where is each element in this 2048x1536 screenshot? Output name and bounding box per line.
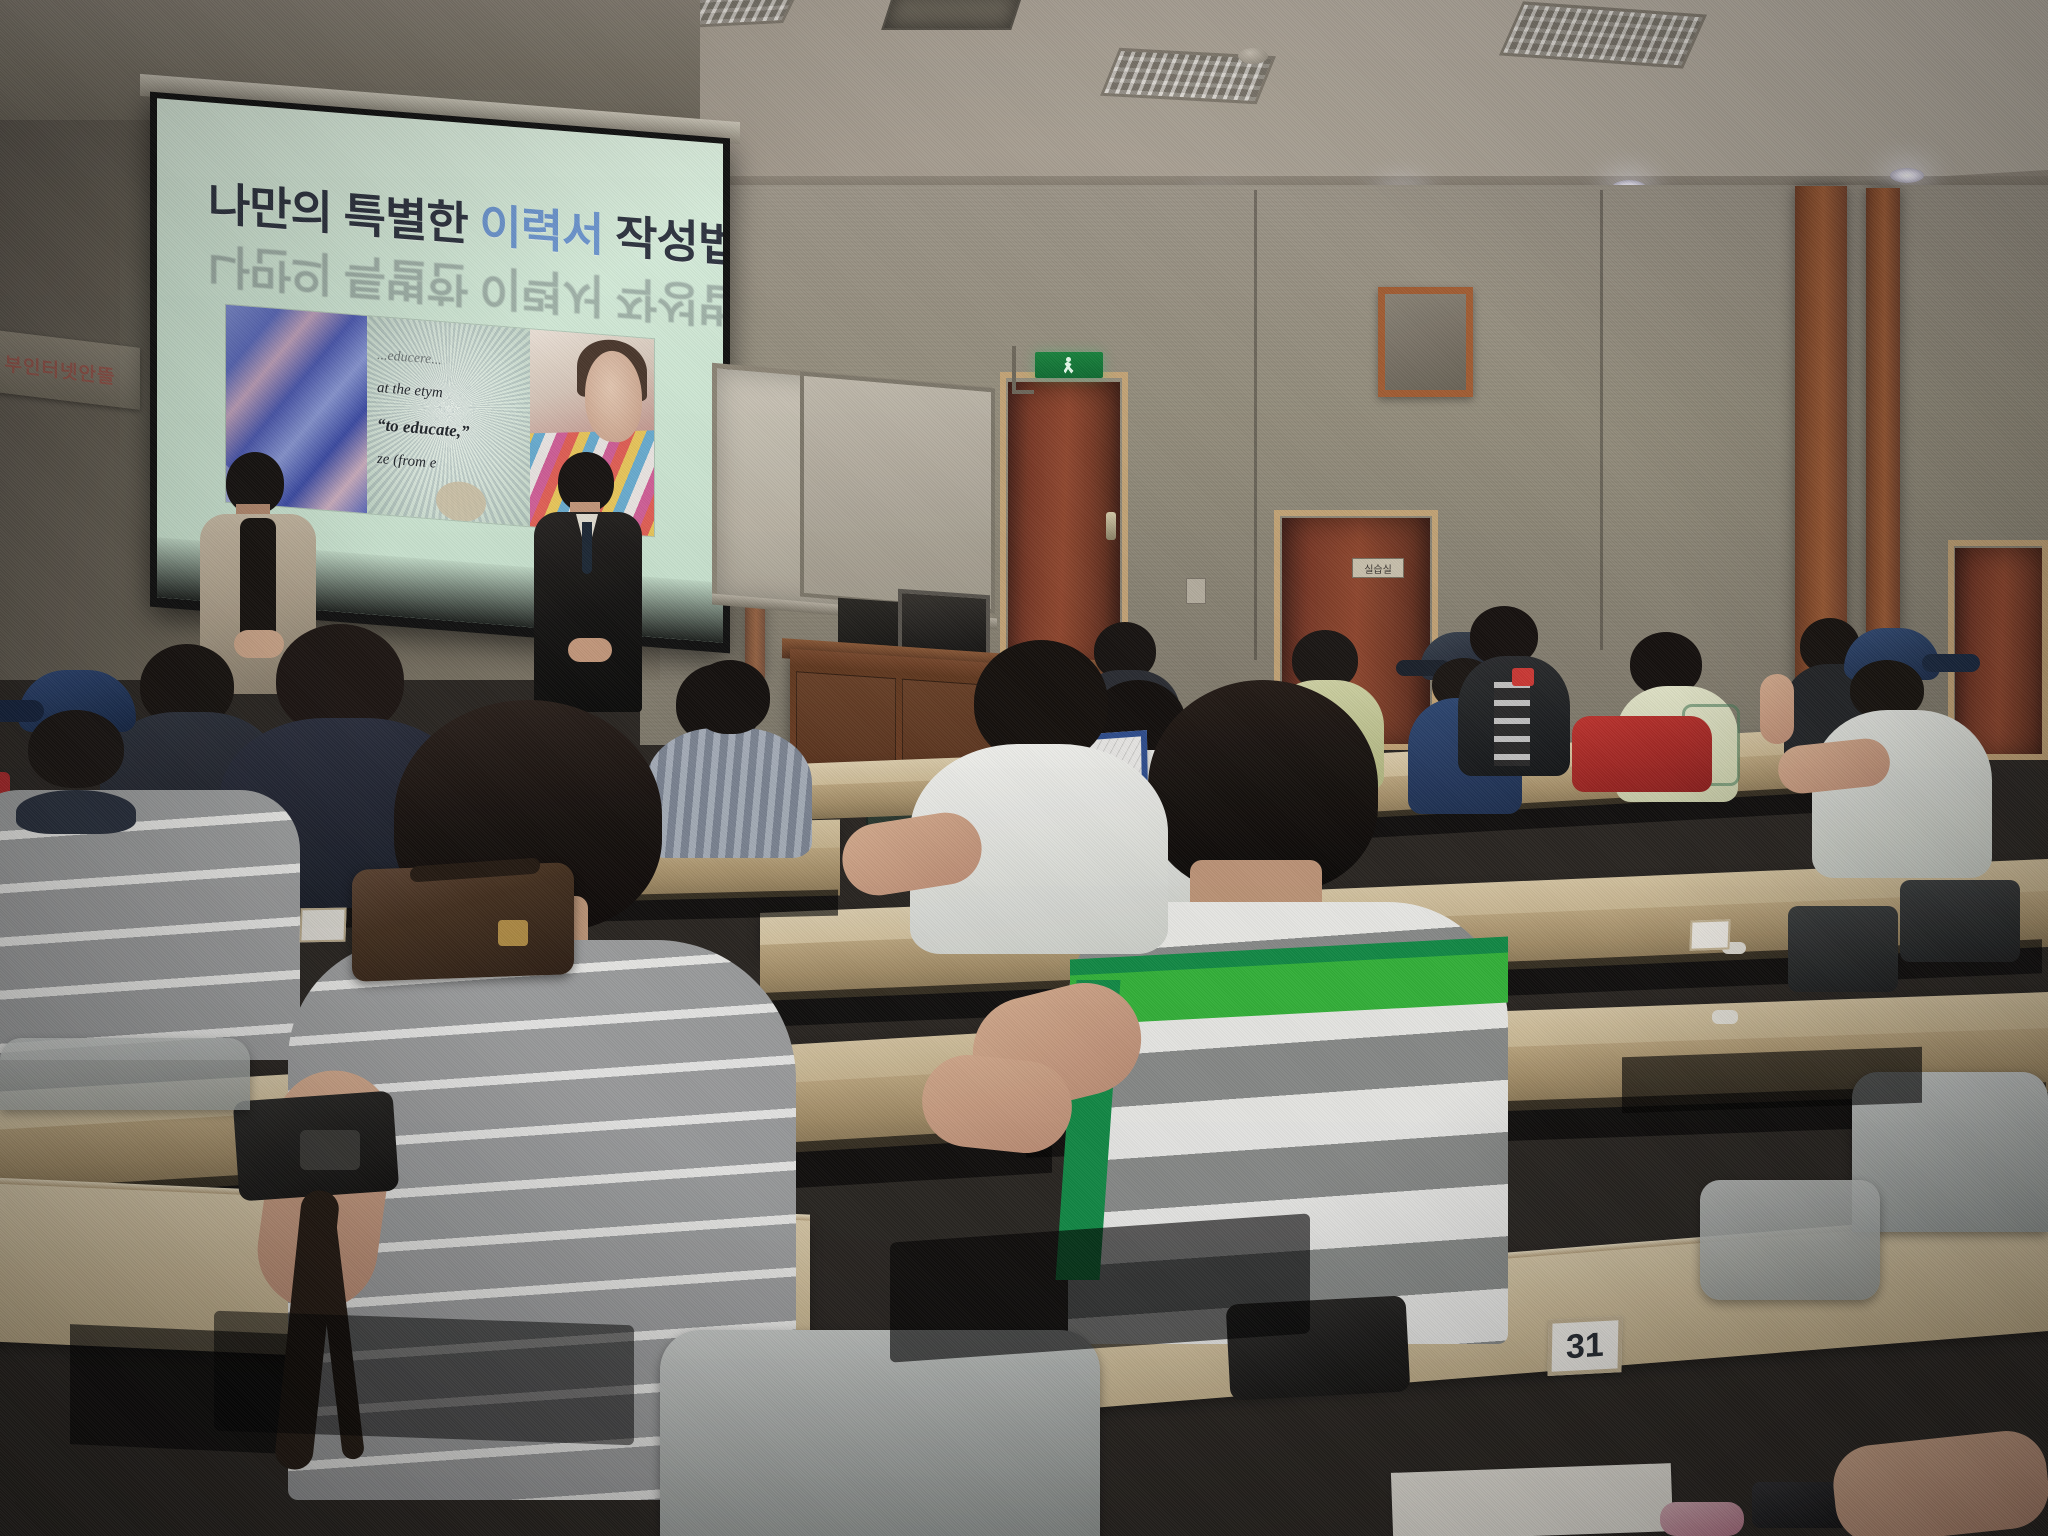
chair-back[interactable]: [1788, 906, 1898, 992]
wall-frame: [1378, 287, 1473, 397]
desk-number-plate: 31: [1548, 1316, 1623, 1376]
door-sign-label: 실습실: [1364, 561, 1392, 576]
slide-panel-dictionary: ...educere... at the etym “to educate,” …: [367, 316, 530, 527]
exit-sign-bracket: [1012, 346, 1034, 394]
paper-sheet[interactable]: [1391, 1463, 1673, 1536]
dict-line-4: ze (from e: [377, 451, 523, 480]
running-man-icon: [1063, 357, 1076, 374]
chair-back[interactable]: [1900, 880, 2020, 962]
dict-line-3: “to educate,”: [377, 415, 523, 447]
cap-brim: [1922, 654, 1980, 672]
slide-title-part3: 작성법: [603, 209, 723, 272]
red-backpack: [1572, 716, 1712, 792]
desk-label: [1689, 919, 1730, 950]
light-switch[interactable]: [1186, 578, 1206, 604]
small-object[interactable]: [1712, 1010, 1738, 1024]
door-sign: 실습실: [1352, 558, 1404, 578]
chair-foreground[interactable]: [660, 1330, 1100, 1536]
brown-leather-bag[interactable]: [352, 862, 574, 982]
hand: [1829, 1427, 2048, 1536]
door-handle[interactable]: [1106, 512, 1116, 540]
wall-sign-label: 부인터넷안뜰: [5, 349, 116, 390]
hand-accessory: [1660, 1502, 1744, 1536]
lecture-hall-photo: 부인터넷안뜰 나만의 특별한 이력서 작성법 나만의 특별한 이력서 작성법 .…: [0, 0, 2048, 1536]
chair-left[interactable]: [0, 1038, 250, 1110]
slide-title-highlight: 이력서: [479, 199, 603, 261]
desk-number-label: 31: [1566, 1325, 1604, 1367]
dict-line-2: at the etym: [377, 380, 523, 409]
bag-pocket: [300, 1130, 360, 1170]
cap-brim: [0, 700, 44, 722]
bag-buckle: [498, 920, 528, 946]
air-vent-icon: [881, 0, 1025, 30]
dict-line-1: ...educere...: [377, 348, 523, 376]
ceiling-downlight-icon: [1890, 168, 1924, 183]
desk-label: [299, 908, 346, 943]
whiteboard-secondary: [800, 371, 995, 613]
exit-sign: [1035, 352, 1103, 378]
smoke-detector-icon: [1238, 48, 1268, 64]
chair-right-2[interactable]: [1700, 1180, 1880, 1300]
